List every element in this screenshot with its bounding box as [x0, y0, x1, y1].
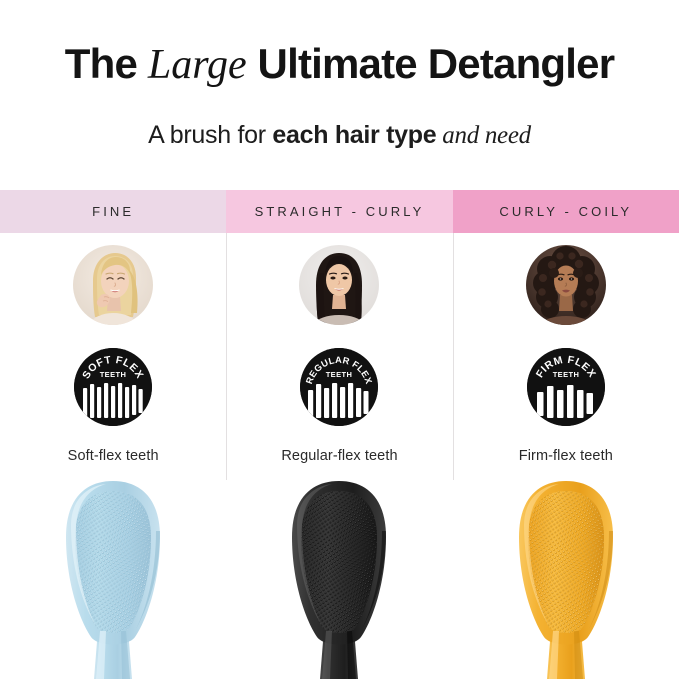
hair-type-band-row: FINE STRAIGHT - CURLY CURLY - COILY — [0, 190, 679, 233]
hair-type-label-curly-coily: CURLY - COILY — [499, 204, 632, 219]
portrait-straight-curly — [299, 245, 379, 325]
hair-type-label-straight-curly: STRAIGHT - CURLY — [255, 204, 425, 219]
page-title-italic: Large — [148, 42, 247, 88]
page-subtitle-part1: A brush for — [148, 121, 272, 149]
brush-straight-curly — [264, 479, 414, 679]
hair-type-label-fine: FINE — [92, 204, 134, 219]
hair-type-band-straight-curly: STRAIGHT - CURLY — [226, 190, 452, 233]
column-fine: SOFT FLEX TEETH Soft-flex teeth — [0, 233, 226, 679]
comparison-columns: SOFT FLEX TEETH Soft-flex teeth — [0, 233, 679, 679]
svg-text:TEETH: TEETH — [326, 370, 353, 379]
portrait-curly-coily — [526, 245, 606, 325]
page-title-part1: The — [65, 40, 148, 87]
hair-type-band-curly-coily: CURLY - COILY — [453, 190, 679, 233]
svg-text:TEETH: TEETH — [100, 370, 127, 379]
caption-firm-flex: Firm-flex teeth — [453, 448, 679, 464]
svg-text:TEETH: TEETH — [553, 370, 580, 379]
flex-badge-firm: FIRM FLEX TEETH — [527, 348, 605, 426]
caption-soft-flex: Soft-flex teeth — [0, 448, 226, 464]
page-title-part2: Ultimate Detangler — [247, 40, 615, 87]
page-title: The Large Ultimate Detangler — [0, 42, 679, 87]
portrait-fine — [73, 245, 153, 325]
flex-badge-soft: SOFT FLEX TEETH — [74, 348, 152, 426]
caption-regular-flex: Regular-flex teeth — [226, 448, 452, 464]
page-subtitle-italic: and need — [436, 122, 531, 149]
page-subtitle: A brush for each hair type and need — [0, 120, 679, 151]
column-straight-curly: REGULAR FLEX TEETH Regular-flex teeth — [226, 233, 452, 679]
flex-badge-regular: REGULAR FLEX TEETH — [300, 348, 378, 426]
page-subtitle-bold: each hair type — [272, 121, 436, 149]
brush-fine — [38, 479, 188, 679]
column-curly-coily: FIRM FLEX TEETH Firm-flex teeth — [453, 233, 679, 679]
brush-curly-coily — [491, 479, 641, 679]
product-comparison-page: The Large Ultimate Detangler A brush for… — [0, 0, 679, 679]
hair-type-band-fine: FINE — [0, 190, 226, 233]
